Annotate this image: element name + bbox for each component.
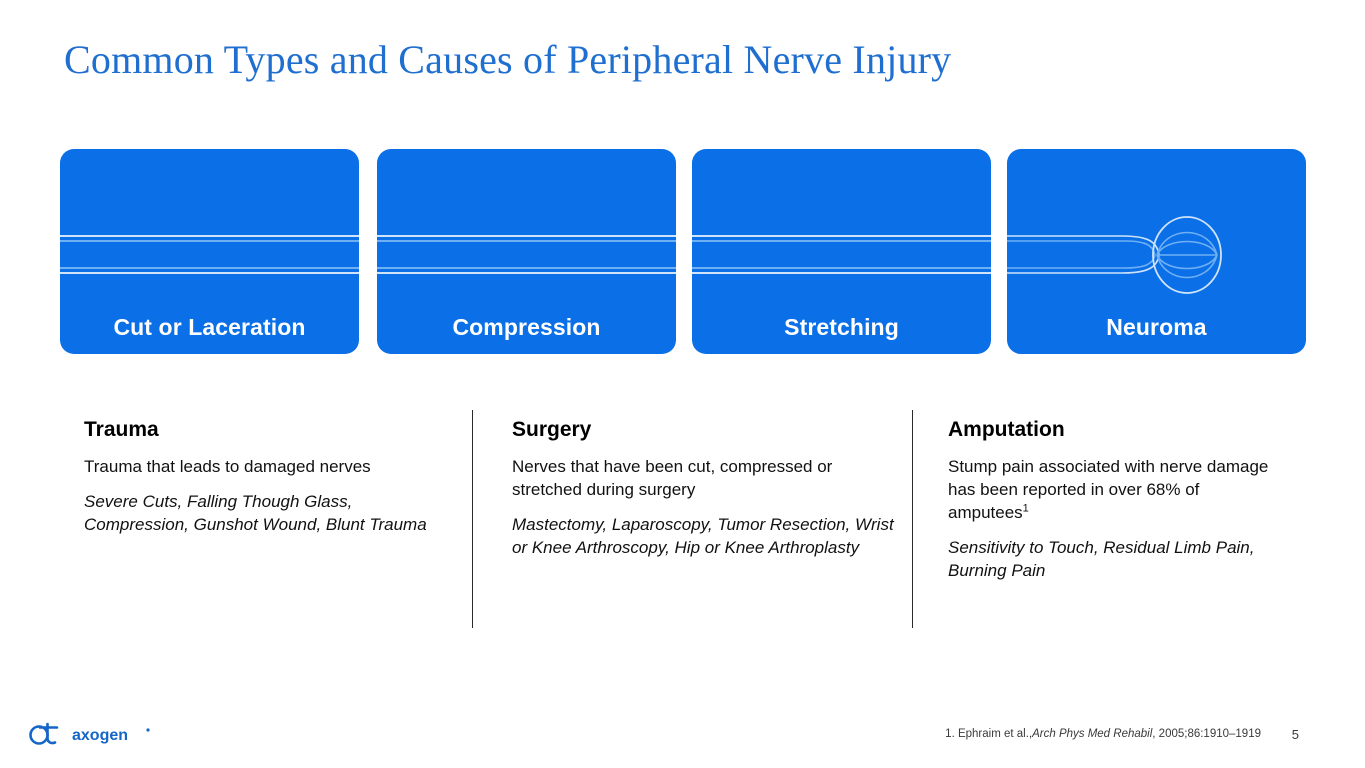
footnote-marker: 1 [1023,502,1029,514]
cause-heading: Surgery [512,418,897,442]
axogen-wordmark: axogen [72,727,128,744]
cause-examples: Sensitivity to Touch, Residual Limb Pain… [948,536,1278,582]
cause-body: Trauma that leads to damaged nerves [84,455,444,478]
cause-body: Stump pain associated with nerve damage … [948,455,1278,524]
injury-card-label: Stretching [692,314,991,341]
cause-columns: Trauma Trauma that leads to damaged nerv… [84,418,1284,633]
page-title: Common Types and Causes of Peripheral Ne… [64,36,1264,84]
cause-body: Nerves that have been cut, compressed or… [512,455,897,501]
injury-type-card-row: Cut or Laceration Compression Stretching [60,149,1306,354]
injury-card-label: Compression [377,314,676,341]
injury-card-cut-or-laceration[interactable]: Cut or Laceration [60,149,359,354]
page-number: 5 [1292,727,1299,742]
injury-card-stretching[interactable]: Stretching [692,149,991,354]
axogen-a-mark-icon: axogen [26,714,156,750]
cause-examples: Severe Cuts, Falling Though Glass, Compr… [84,490,444,536]
cause-heading: Amputation [948,418,1278,442]
injury-card-label: Neuroma [1007,314,1306,341]
injury-card-compression[interactable]: Compression [377,149,676,354]
cause-examples: Mastectomy, Laparoscopy, Tumor Resection… [512,513,897,559]
citation-suffix: , 2005;86:1910–1919 [1152,728,1261,740]
axogen-logo[interactable]: axogen [26,714,156,750]
injury-card-neuroma[interactable]: Neuroma [1007,149,1306,354]
footnote-citation: 1. Ephraim et al.,Arch Phys Med Rehabil,… [945,728,1261,740]
cause-heading: Trauma [84,418,444,442]
cause-column-amputation: Amputation Stump pain associated with ne… [948,418,1278,582]
cause-column-trauma: Trauma Trauma that leads to damaged nerv… [84,418,444,536]
cause-column-surgery: Surgery Nerves that have been cut, compr… [512,418,897,559]
citation-prefix: 1. Ephraim et al., [945,728,1032,740]
injury-card-label: Cut or Laceration [60,314,359,341]
citation-journal: Arch Phys Med Rehabil [1032,728,1152,740]
cause-body-text: Stump pain associated with nerve damage … [948,457,1268,522]
